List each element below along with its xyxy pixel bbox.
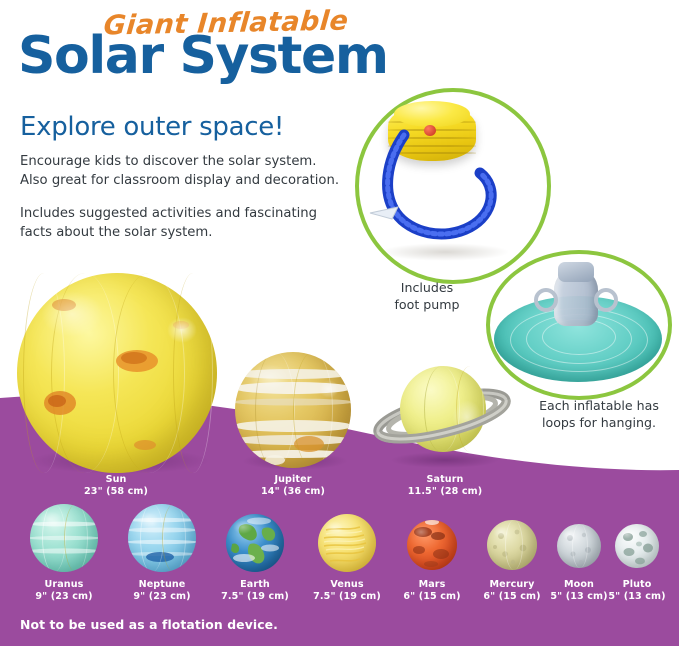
- hanging-loop-left-icon: [534, 288, 558, 312]
- description-line: facts about the solar system.: [20, 223, 317, 242]
- planet-uranus: [30, 504, 98, 572]
- label-earth: Earth 7.5" (19 cm): [205, 579, 305, 602]
- page-title: Solar System: [18, 30, 388, 82]
- label-sun: Sun 23" (58 cm): [66, 474, 166, 497]
- label-uranus: Uranus 9" (23 cm): [14, 579, 114, 602]
- description-line: Includes suggested activities and fascin…: [20, 204, 317, 223]
- caption-line: Includes: [372, 280, 482, 297]
- planet-name: Pluto: [587, 579, 679, 591]
- planet-size: 5" (13 cm): [587, 591, 679, 603]
- caption-line: Each inflatable has: [524, 398, 674, 415]
- product-ad-page: Giant Inflatable Solar System Explore ou…: [0, 0, 679, 646]
- planet-jupiter: [235, 352, 351, 468]
- planet-venus: [318, 514, 376, 572]
- hanging-loops-photo: [492, 262, 664, 390]
- planet-size: 9" (23 cm): [14, 591, 114, 603]
- planet-saturn: [372, 360, 512, 466]
- caption-line: foot pump: [372, 297, 482, 314]
- planet-mercury: [487, 520, 537, 570]
- subheading: Explore outer space!: [20, 112, 284, 142]
- label-jupiter: Jupiter 14" (36 cm): [243, 474, 343, 497]
- label-saturn: Saturn 11.5" (28 cm): [395, 474, 495, 497]
- description-line: Also great for classroom display and dec…: [20, 171, 339, 190]
- planet-name: Saturn: [395, 474, 495, 486]
- flotation-disclaimer: Not to be used as a flotation device.: [20, 617, 278, 632]
- pump-shadow: [380, 243, 510, 261]
- planet-name: Uranus: [14, 579, 114, 591]
- valve-cap-icon: [558, 262, 594, 282]
- planet-size: 23" (58 cm): [66, 486, 166, 498]
- planet-name: Earth: [205, 579, 305, 591]
- foot-pump-caption: Includes foot pump: [372, 280, 482, 313]
- planet-neptune: [128, 504, 196, 572]
- hanging-loop-right-icon: [594, 288, 618, 312]
- planet-size: 11.5" (28 cm): [395, 486, 495, 498]
- planet-size: 14" (36 cm): [243, 486, 343, 498]
- description-paragraph-2: Includes suggested activities and fascin…: [20, 204, 317, 242]
- hanging-loops-caption: Each inflatable has loops for hanging.: [524, 398, 674, 431]
- description-paragraph-1: Encourage kids to discover the solar sys…: [20, 152, 339, 190]
- planet-earth: [226, 514, 284, 572]
- planet-moon: [557, 524, 601, 568]
- planet-name: Sun: [66, 474, 166, 486]
- description-line: Encourage kids to discover the solar sys…: [20, 152, 339, 171]
- planet-name: Jupiter: [243, 474, 343, 486]
- caption-line: loops for hanging.: [524, 415, 674, 432]
- planet-mars: [407, 520, 457, 570]
- planet-size: 7.5" (19 cm): [205, 591, 305, 603]
- planet-pluto: [615, 524, 659, 568]
- saturn-rings-front-icon: [372, 360, 512, 466]
- planet-name: Neptune: [112, 579, 212, 591]
- sunspot-group: [17, 273, 217, 473]
- planet-sun: [17, 273, 217, 473]
- label-neptune: Neptune 9" (23 cm): [112, 579, 212, 602]
- foot-pump-photo: [352, 95, 542, 280]
- label-pluto: Pluto 5" (13 cm): [587, 579, 679, 602]
- planet-size: 9" (23 cm): [112, 591, 212, 603]
